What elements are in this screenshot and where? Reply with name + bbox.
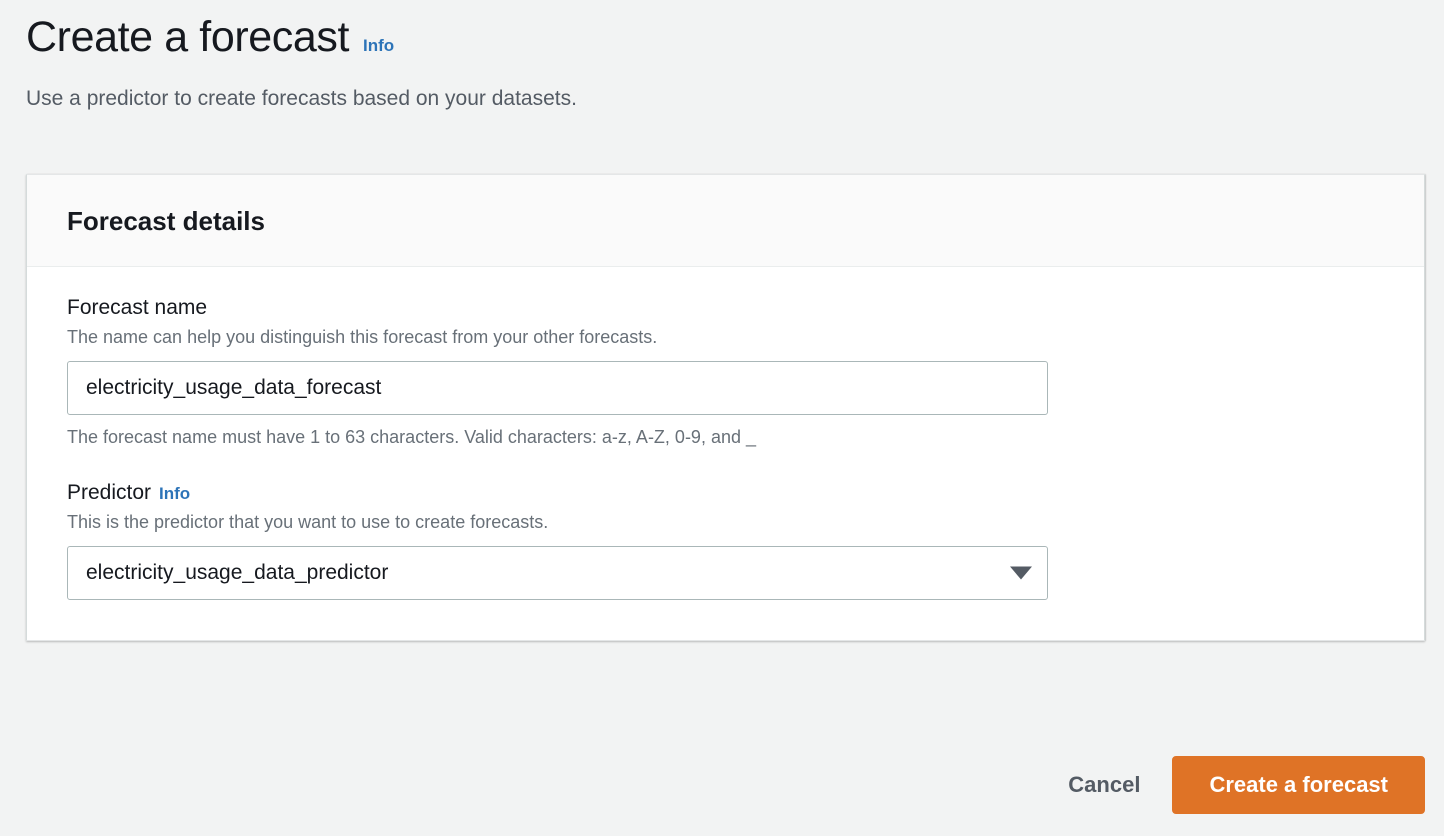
predictor-select[interactable]: electricity_usage_data_predictor (67, 546, 1048, 600)
page-title-info-link[interactable]: Info (363, 36, 394, 56)
cancel-button[interactable]: Cancel (1050, 760, 1158, 810)
title-row: Create a forecast Info (26, 14, 1418, 61)
card-header: Forecast details (27, 175, 1424, 267)
predictor-description: This is the predictor that you want to u… (67, 511, 1384, 534)
page-subtitle: Use a predictor to create forecasts base… (26, 85, 1418, 112)
forecast-name-input[interactable] (67, 361, 1048, 415)
predictor-info-link[interactable]: Info (159, 483, 190, 504)
predictor-label: Predictor (67, 480, 151, 506)
page-header: Create a forecast Info Use a predictor t… (0, 0, 1444, 113)
forecast-name-field: Forecast name The name can help you dist… (67, 295, 1384, 450)
predictor-label-row: Predictor Info (67, 480, 1384, 506)
forecast-name-constraint: The forecast name must have 1 to 63 char… (67, 426, 1384, 449)
create-forecast-button[interactable]: Create a forecast (1172, 756, 1425, 814)
footer-actions: Cancel Create a forecast (1050, 756, 1425, 814)
forecast-name-label: Forecast name (67, 295, 207, 321)
forecast-name-description: The name can help you distinguish this f… (67, 326, 1384, 349)
forecast-details-card: Forecast details Forecast name The name … (26, 174, 1425, 641)
create-forecast-page: Create a forecast Info Use a predictor t… (0, 0, 1444, 836)
forecast-name-label-row: Forecast name (67, 295, 1384, 321)
page-title: Create a forecast (26, 14, 349, 61)
predictor-field: Predictor Info This is the predictor tha… (67, 480, 1384, 601)
card-body: Forecast name The name can help you dist… (27, 267, 1424, 641)
card-header-title: Forecast details (67, 207, 1384, 236)
predictor-select-value[interactable]: electricity_usage_data_predictor (67, 546, 1048, 600)
